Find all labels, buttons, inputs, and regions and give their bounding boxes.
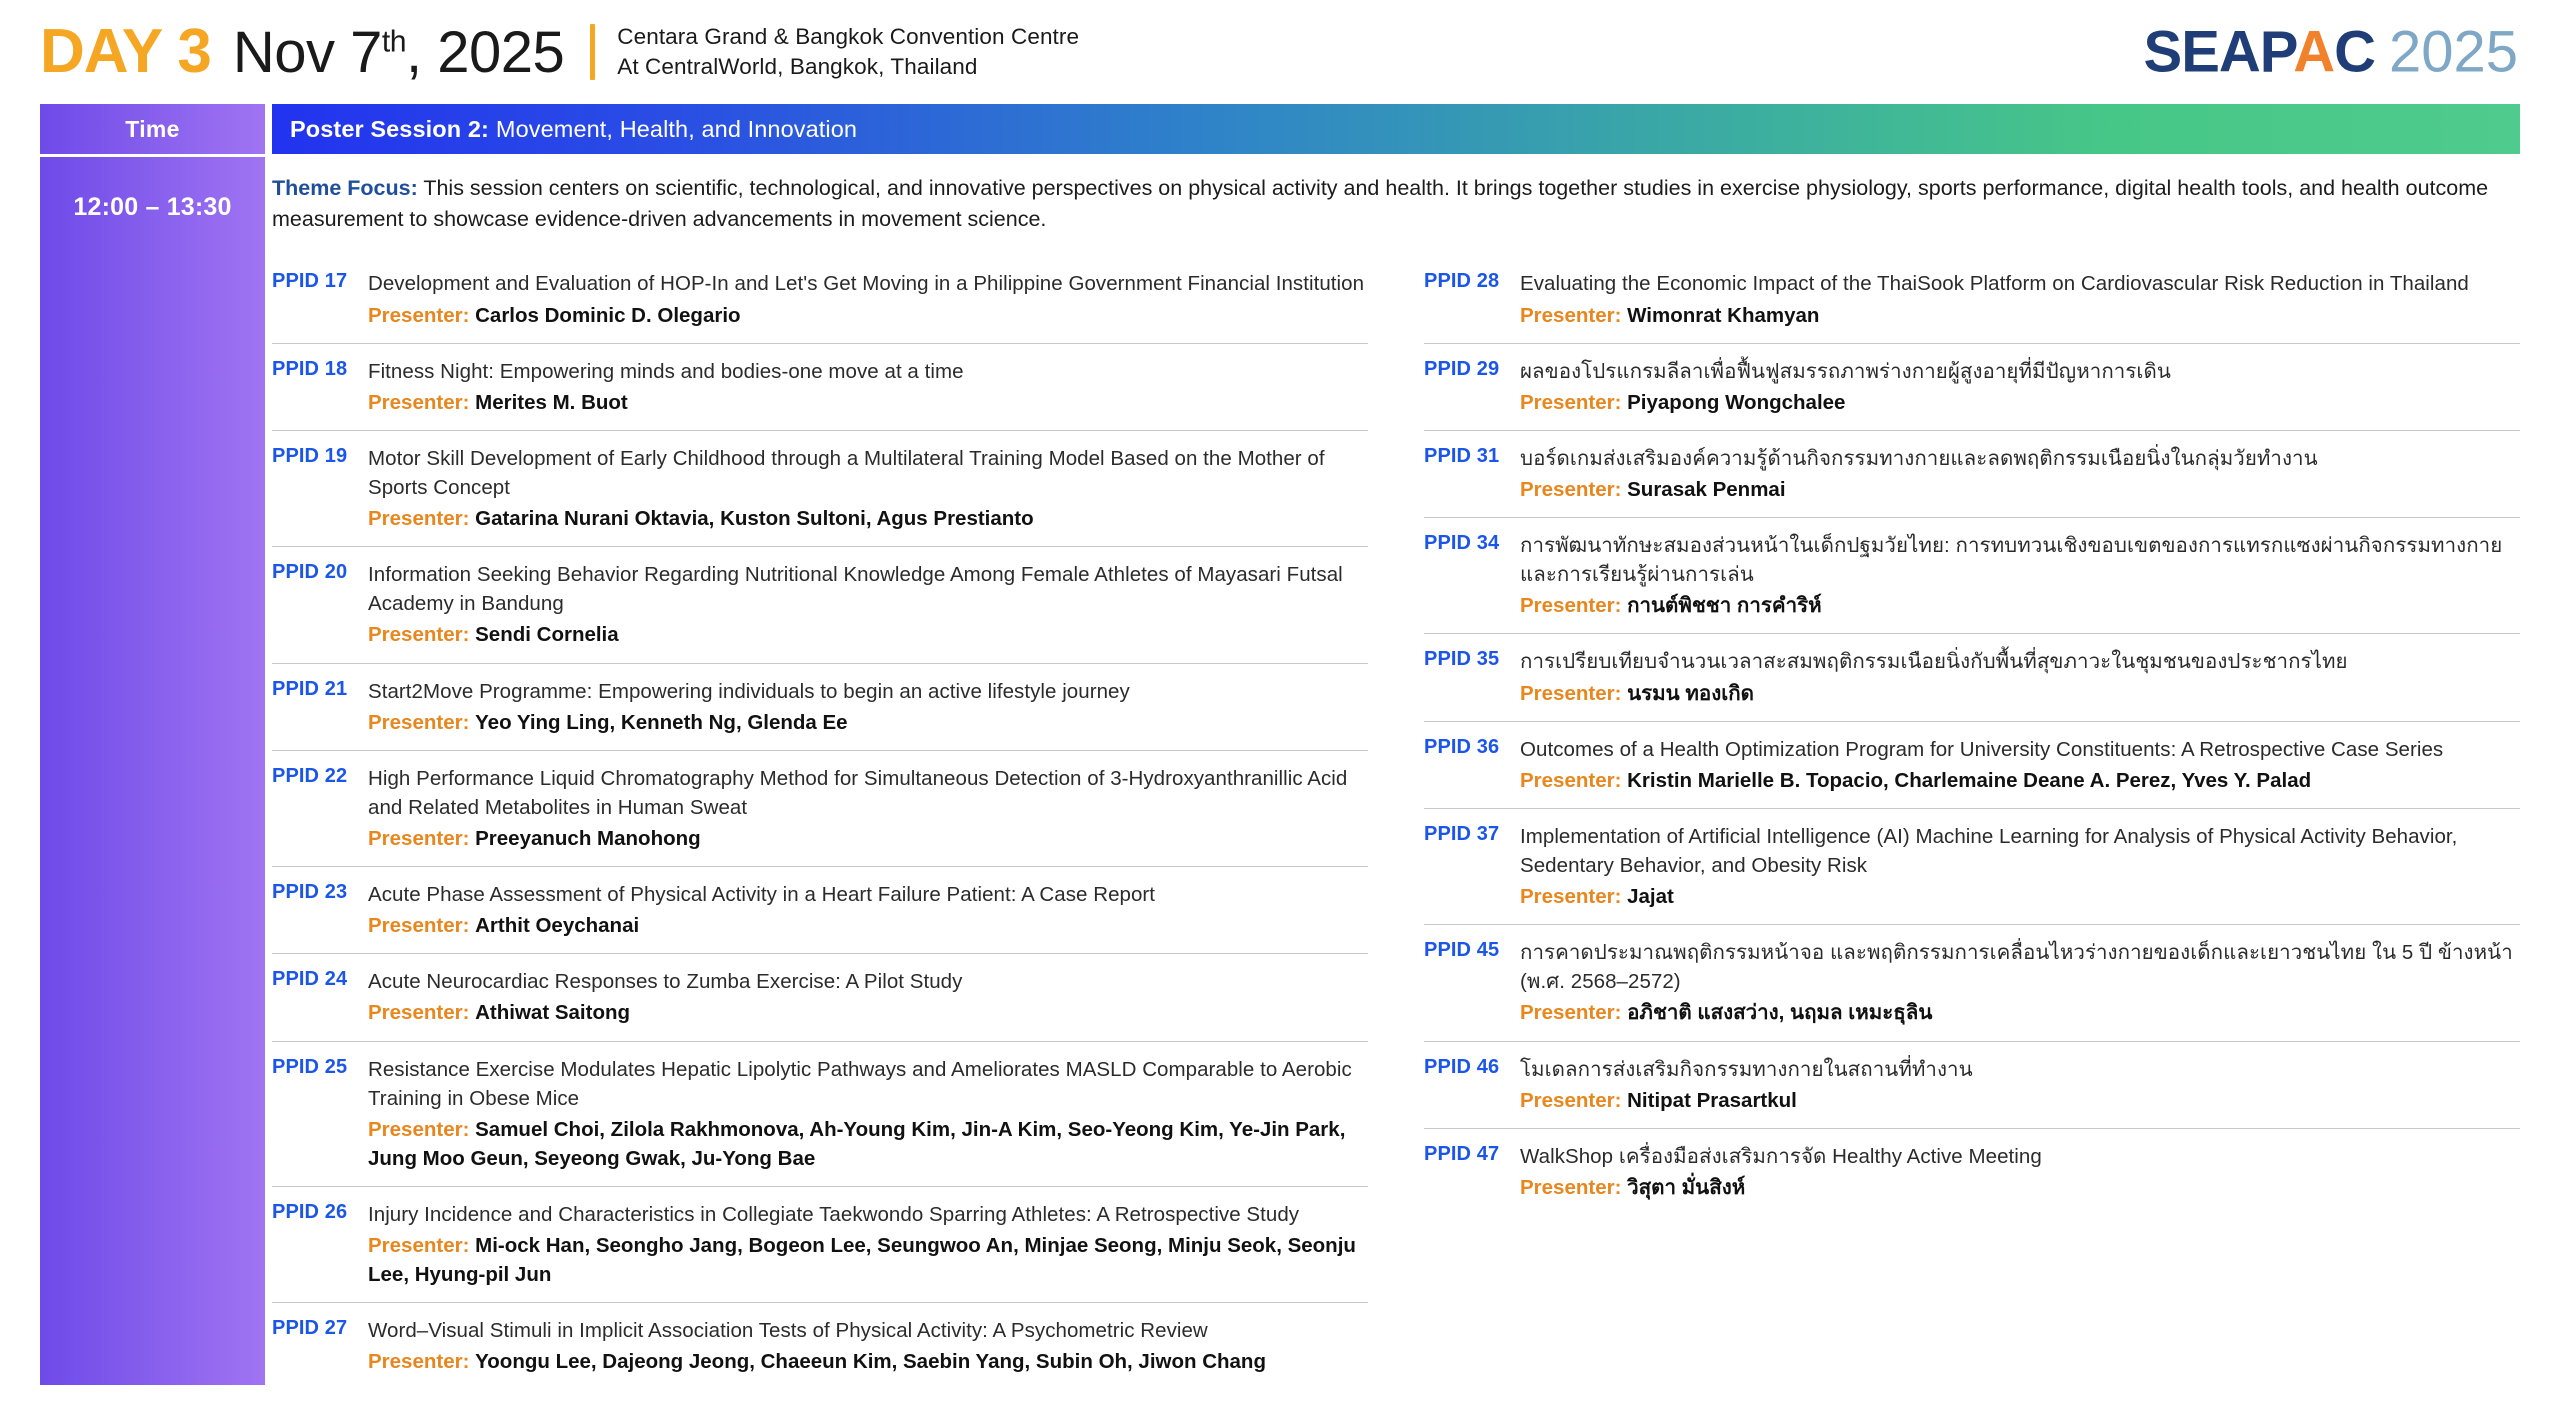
logo-a: A xyxy=(2293,20,2334,85)
poster-presenter: Presenter: Wimonrat Khamyan xyxy=(1520,301,2520,330)
poster-presenter: Presenter: Sendi Cornelia xyxy=(368,620,1368,649)
poster-id: PPID 18 xyxy=(272,357,368,381)
poster-entry-row: PPID 28Evaluating the Economic Impact of… xyxy=(1424,269,2520,329)
poster-entry-row: PPID 47WalkShop เครื่องมือส่งเสริมการจัด… xyxy=(1424,1142,2520,1202)
poster-entry[interactable]: PPID 25Resistance Exercise Modulates Hep… xyxy=(272,1042,1368,1187)
poster-entry-row: PPID 25Resistance Exercise Modulates Hep… xyxy=(272,1055,1368,1173)
poster-list-left: PPID 17Development and Evaluation of HOP… xyxy=(272,256,1368,1389)
logo-seap: SEAP xyxy=(2144,20,2294,85)
poster-entry[interactable]: PPID 23Acute Phase Assessment of Physica… xyxy=(272,867,1368,954)
poster-entry-text: WalkShop เครื่องมือส่งเสริมการจัด Health… xyxy=(1520,1142,2520,1202)
poster-title: Word–Visual Stimuli in Implicit Associat… xyxy=(368,1316,1368,1345)
presenter-label: Presenter: xyxy=(368,1234,469,1257)
poster-id: PPID 26 xyxy=(272,1200,368,1224)
poster-entry-row: PPID 24Acute Neurocardiac Responses to Z… xyxy=(272,967,1368,1027)
presenter-names: Sendi Cornelia xyxy=(475,623,619,646)
presenter-names: Samuel Choi, Zilola Rakhmonova, Ah-Young… xyxy=(368,1118,1345,1170)
poster-presenter: Presenter: Piyapong Wongchalee xyxy=(1520,388,2520,417)
poster-id: PPID 21 xyxy=(272,677,368,701)
poster-entry-text: Injury Incidence and Characteristics in … xyxy=(368,1200,1368,1289)
presenter-label: Presenter: xyxy=(368,827,469,850)
poster-presenter: Presenter: Yeo Ying Ling, Kenneth Ng, Gl… xyxy=(368,708,1368,737)
poster-entry-row: PPID 17Development and Evaluation of HOP… xyxy=(272,269,1368,329)
poster-title: Start2Move Programme: Empowering individ… xyxy=(368,677,1368,706)
poster-entry-row: PPID 29ผลของโปรแกรมลีลาเพื่อฟื้นฟูสมรรถภ… xyxy=(1424,357,2520,417)
poster-id: PPID 29 xyxy=(1424,357,1520,381)
poster-entry-row: PPID 23Acute Phase Assessment of Physica… xyxy=(272,880,1368,940)
poster-id: PPID 34 xyxy=(1424,531,1520,555)
poster-entry[interactable]: PPID 31บอร์ดเกมส่งเสริมองค์ความรู้ด้านกิ… xyxy=(1424,431,2520,518)
poster-entry[interactable]: PPID 46โมเดลการส่งเสริมกิจกรรมทางกายในสถ… xyxy=(1424,1042,2520,1129)
poster-id: PPID 17 xyxy=(272,269,368,293)
presenter-label: Presenter: xyxy=(1520,304,1621,327)
poster-title: Development and Evaluation of HOP-In and… xyxy=(368,269,1368,298)
poster-entry[interactable]: PPID 20Information Seeking Behavior Rega… xyxy=(272,547,1368,663)
poster-entry-row: PPID 45การคาดประมาณพฤติกรรมหน้าจอ และพฤต… xyxy=(1424,938,2520,1027)
poster-entry[interactable]: PPID 29ผลของโปรแกรมลีลาเพื่อฟื้นฟูสมรรถภ… xyxy=(1424,344,2520,431)
poster-entry-text: บอร์ดเกมส่งเสริมองค์ความรู้ด้านกิจกรรมทา… xyxy=(1520,444,2520,504)
presenter-label: Presenter: xyxy=(368,914,469,937)
presenter-names: Surasak Penmai xyxy=(1627,478,1785,501)
poster-presenter: Presenter: Preeyanuch Manohong xyxy=(368,824,1368,853)
poster-entry-text: Development and Evaluation of HOP-In and… xyxy=(368,269,1368,329)
poster-presenter: Presenter: กานต์พิชชา การคำริห์ xyxy=(1520,591,2520,620)
poster-title: การพัฒนาทักษะสมองส่วนหน้าในเด็กปฐมวัยไทย… xyxy=(1520,531,2520,589)
poster-entry-text: Information Seeking Behavior Regarding N… xyxy=(368,560,1368,649)
poster-entry[interactable]: PPID 26Injury Incidence and Characterist… xyxy=(272,1187,1368,1303)
poster-title: Acute Neurocardiac Responses to Zumba Ex… xyxy=(368,967,1368,996)
poster-entry-text: Motor Skill Development of Early Childho… xyxy=(368,444,1368,533)
poster-presenter: Presenter: Athiwat Saitong xyxy=(368,998,1368,1027)
poster-presenter: Presenter: Gatarina Nurani Oktavia, Kust… xyxy=(368,504,1368,533)
poster-presenter: Presenter: Nitipat Prasartkul xyxy=(1520,1086,2520,1115)
poster-entry-text: Evaluating the Economic Impact of the Th… xyxy=(1520,269,2520,329)
logo-year: 2025 xyxy=(2389,20,2518,85)
poster-title: ผลของโปรแกรมลีลาเพื่อฟื้นฟูสมรรถภาพร่างก… xyxy=(1520,357,2520,386)
header-divider xyxy=(590,24,595,80)
poster-entry[interactable]: PPID 47WalkShop เครื่องมือส่งเสริมการจัด… xyxy=(1424,1129,2520,1215)
presenter-names: Jajat xyxy=(1627,885,1674,908)
presenter-label: Presenter: xyxy=(368,623,469,646)
poster-id: PPID 45 xyxy=(1424,938,1520,962)
poster-title: โมเดลการส่งเสริมกิจกรรมทางกายในสถานที่ทำ… xyxy=(1520,1055,2520,1084)
presenter-names: อภิชาติ แสงสว่าง, นฤมล เหมะธุลิน xyxy=(1627,1001,1932,1024)
presenter-names: นรมน ทองเกิด xyxy=(1627,682,1754,705)
poster-id: PPID 28 xyxy=(1424,269,1520,293)
presenter-names: Merites M. Buot xyxy=(475,391,628,414)
poster-entry-text: การเปรียบเทียบจำนวนเวลาสะสมพฤติกรรมเนือย… xyxy=(1520,647,2520,707)
poster-entry-text: Acute Phase Assessment of Physical Activ… xyxy=(368,880,1368,940)
poster-title: Implementation of Artificial Intelligenc… xyxy=(1520,822,2520,880)
presenter-names: Yoongu Lee, Dajeong Jeong, Chaeeun Kim, … xyxy=(475,1350,1266,1373)
poster-entry-text: การพัฒนาทักษะสมองส่วนหน้าในเด็กปฐมวัยไทย… xyxy=(1520,531,2520,620)
poster-id: PPID 47 xyxy=(1424,1142,1520,1166)
poster-entry-row: PPID 46โมเดลการส่งเสริมกิจกรรมทางกายในสถ… xyxy=(1424,1055,2520,1115)
venue-line-1: Centara Grand & Bangkok Convention Centr… xyxy=(617,22,1079,52)
presenter-label: Presenter: xyxy=(368,1001,469,1024)
poster-entry-row: PPID 31บอร์ดเกมส่งเสริมองค์ความรู้ด้านกิ… xyxy=(1424,444,2520,504)
presenter-label: Presenter: xyxy=(1520,1089,1621,1112)
poster-entry-row: PPID 19Motor Skill Development of Early … xyxy=(272,444,1368,533)
poster-entry[interactable]: PPID 28Evaluating the Economic Impact of… xyxy=(1424,256,2520,343)
presenter-label: Presenter: xyxy=(368,1118,469,1141)
presenter-names: Arthit Oeychanai xyxy=(475,914,639,937)
presenter-label: Presenter: xyxy=(368,507,469,530)
poster-entry-row: PPID 36Outcomes of a Health Optimization… xyxy=(1424,735,2520,795)
venue-line-2: At CentralWorld, Bangkok, Thailand xyxy=(617,52,1079,82)
presenter-label: Presenter: xyxy=(1520,682,1621,705)
poster-presenter: Presenter: Arthit Oeychanai xyxy=(368,911,1368,940)
session-title: Movement, Health, and Innovation xyxy=(496,116,857,143)
poster-id: PPID 37 xyxy=(1424,822,1520,846)
presenter-label: Presenter: xyxy=(1520,769,1621,792)
poster-title: WalkShop เครื่องมือส่งเสริมการจัด Health… xyxy=(1520,1142,2520,1171)
poster-entry-row: PPID 21Start2Move Programme: Empowering … xyxy=(272,677,1368,737)
logo-c: C xyxy=(2334,20,2375,85)
date-label: Nov 7th, 2025 xyxy=(233,24,564,82)
poster-id: PPID 23 xyxy=(272,880,368,904)
presenter-names: Yeo Ying Ling, Kenneth Ng, Glenda Ee xyxy=(475,711,847,734)
poster-id: PPID 46 xyxy=(1424,1055,1520,1079)
poster-presenter: Presenter: Jajat xyxy=(1520,882,2520,911)
poster-id: PPID 22 xyxy=(272,764,368,788)
poster-entry[interactable]: PPID 22High Performance Liquid Chromatog… xyxy=(272,751,1368,867)
poster-entry-text: Acute Neurocardiac Responses to Zumba Ex… xyxy=(368,967,1368,1027)
poster-entry-row: PPID 34การพัฒนาทักษะสมองส่วนหน้าในเด็กปฐ… xyxy=(1424,531,2520,620)
presenter-names: Athiwat Saitong xyxy=(475,1001,630,1024)
session-title-bar: Poster Session 2:Movement, Health, and I… xyxy=(272,104,2520,154)
poster-title: Resistance Exercise Modulates Hepatic Li… xyxy=(368,1055,1368,1113)
poster-entry[interactable]: PPID 35การเปรียบเทียบจำนวนเวลาสะสมพฤติกร… xyxy=(1424,634,2520,721)
presenter-label: Presenter: xyxy=(1520,885,1621,908)
session-label: Poster Session 2: xyxy=(290,116,489,143)
poster-id: PPID 36 xyxy=(1424,735,1520,759)
theme-focus-paragraph: Theme Focus: This session centers on sci… xyxy=(272,173,2520,234)
time-column-header: Time xyxy=(40,104,265,154)
poster-presenter: Presenter: Mi-ock Han, Seongho Jang, Bog… xyxy=(368,1231,1368,1289)
presenter-names: Carlos Dominic D. Olegario xyxy=(475,304,740,327)
venue-block: Centara Grand & Bangkok Convention Centr… xyxy=(617,22,1079,82)
presenter-names: Nitipat Prasartkul xyxy=(1627,1089,1797,1112)
poster-entry[interactable]: PPID 36Outcomes of a Health Optimization… xyxy=(1424,722,2520,809)
poster-entry-text: Implementation of Artificial Intelligenc… xyxy=(1520,822,2520,911)
poster-presenter: Presenter: Yoongu Lee, Dajeong Jeong, Ch… xyxy=(368,1347,1368,1376)
poster-id: PPID 20 xyxy=(272,560,368,584)
poster-title: การคาดประมาณพฤติกรรมหน้าจอ และพฤติกรรมกา… xyxy=(1520,938,2520,996)
page-header: DAY 3 Nov 7th, 2025 Centara Grand & Bang… xyxy=(0,0,2560,104)
presenter-label: Presenter: xyxy=(1520,478,1621,501)
poster-entry-text: Outcomes of a Health Optimization Progra… xyxy=(1520,735,2520,795)
poster-presenter: Presenter: Samuel Choi, Zilola Rakhmonov… xyxy=(368,1115,1368,1173)
poster-id: PPID 27 xyxy=(272,1316,368,1340)
poster-list-right: PPID 28Evaluating the Economic Impact of… xyxy=(1424,256,2520,1389)
poster-entry-row: PPID 37Implementation of Artificial Inte… xyxy=(1424,822,2520,911)
poster-title: Injury Incidence and Characteristics in … xyxy=(368,1200,1368,1229)
poster-presenter: Presenter: Merites M. Buot xyxy=(368,388,1368,417)
poster-entry-row: PPID 18Fitness Night: Empowering minds a… xyxy=(272,357,1368,417)
poster-title: Acute Phase Assessment of Physical Activ… xyxy=(368,880,1368,909)
poster-entry-row: PPID 27Word–Visual Stimuli in Implicit A… xyxy=(272,1316,1368,1376)
poster-id: PPID 19 xyxy=(272,444,368,468)
poster-id: PPID 35 xyxy=(1424,647,1520,671)
seapac-logo: SEAPAC2025 xyxy=(2144,19,2518,86)
poster-id: PPID 24 xyxy=(272,967,368,991)
date-year: , 2025 xyxy=(406,20,564,85)
theme-focus-label: Theme Focus: xyxy=(272,176,418,200)
presenter-names: Kristin Marielle B. Topacio, Charlemaine… xyxy=(1627,769,2311,792)
poster-entry[interactable]: PPID 17Development and Evaluation of HOP… xyxy=(272,256,1368,343)
poster-entry-text: Resistance Exercise Modulates Hepatic Li… xyxy=(368,1055,1368,1173)
presenter-label: Presenter: xyxy=(368,391,469,414)
poster-entry[interactable]: PPID 37Implementation of Artificial Inte… xyxy=(1424,809,2520,925)
schedule-poster: DAY 3 Nov 7th, 2025 Centara Grand & Bang… xyxy=(0,0,2560,1422)
presenter-names: Gatarina Nurani Oktavia, Kuston Sultoni,… xyxy=(475,507,1034,530)
poster-entry[interactable]: PPID 24Acute Neurocardiac Responses to Z… xyxy=(272,954,1368,1041)
poster-columns: PPID 17Development and Evaluation of HOP… xyxy=(272,256,2520,1389)
poster-entry-text: Word–Visual Stimuli in Implicit Associat… xyxy=(368,1316,1368,1376)
poster-title: Evaluating the Economic Impact of the Th… xyxy=(1520,269,2520,298)
poster-entry-row: PPID 26Injury Incidence and Characterist… xyxy=(272,1200,1368,1289)
poster-title: บอร์ดเกมส่งเสริมองค์ความรู้ด้านกิจกรรมทา… xyxy=(1520,444,2520,473)
presenter-names: Mi-ock Han, Seongho Jang, Bogeon Lee, Se… xyxy=(368,1234,1356,1286)
presenter-names: Preeyanuch Manohong xyxy=(475,827,701,850)
presenter-names: Wimonrat Khamyan xyxy=(1627,304,1819,327)
poster-presenter: Presenter: วิสุตา มั่นสิงห์ xyxy=(1520,1173,2520,1202)
poster-title: High Performance Liquid Chromatography M… xyxy=(368,764,1368,822)
poster-entry-text: การคาดประมาณพฤติกรรมหน้าจอ และพฤติกรรมกา… xyxy=(1520,938,2520,1027)
time-column: Time 12:00 – 13:30 xyxy=(40,104,265,1385)
schedule-body: Time 12:00 – 13:30 Poster Session 2:Move… xyxy=(0,104,2560,1422)
poster-entry-text: Start2Move Programme: Empowering individ… xyxy=(368,677,1368,737)
poster-presenter: Presenter: นรมน ทองเกิด xyxy=(1520,679,2520,708)
poster-title: Outcomes of a Health Optimization Progra… xyxy=(1520,735,2520,764)
poster-entry[interactable]: PPID 19Motor Skill Development of Early … xyxy=(272,431,1368,547)
presenter-label: Presenter: xyxy=(1520,1001,1621,1024)
theme-focus-text: This session centers on scientific, tech… xyxy=(272,176,2488,231)
poster-presenter: Presenter: อภิชาติ แสงสว่าง, นฤมล เหมะธุ… xyxy=(1520,998,2520,1027)
poster-id: PPID 25 xyxy=(272,1055,368,1079)
poster-entry-text: โมเดลการส่งเสริมกิจกรรมทางกายในสถานที่ทำ… xyxy=(1520,1055,2520,1115)
poster-title: Motor Skill Development of Early Childho… xyxy=(368,444,1368,502)
presenter-label: Presenter: xyxy=(368,711,469,734)
presenter-label: Presenter: xyxy=(1520,1176,1621,1199)
poster-presenter: Presenter: Carlos Dominic D. Olegario xyxy=(368,301,1368,330)
poster-entry-text: High Performance Liquid Chromatography M… xyxy=(368,764,1368,853)
presenter-names: Piyapong Wongchalee xyxy=(1627,391,1845,414)
poster-title: Information Seeking Behavior Regarding N… xyxy=(368,560,1368,618)
presenter-label: Presenter: xyxy=(1520,594,1621,617)
poster-entry[interactable]: PPID 21Start2Move Programme: Empowering … xyxy=(272,664,1368,751)
session-time-value: 12:00 – 13:30 xyxy=(40,193,265,222)
poster-entry[interactable]: PPID 18Fitness Night: Empowering minds a… xyxy=(272,344,1368,431)
presenter-label: Presenter: xyxy=(1520,391,1621,414)
poster-entry-text: ผลของโปรแกรมลีลาเพื่อฟื้นฟูสมรรถภาพร่างก… xyxy=(1520,357,2520,417)
poster-entry-row: PPID 22High Performance Liquid Chromatog… xyxy=(272,764,1368,853)
poster-entry[interactable]: PPID 45การคาดประมาณพฤติกรรมหน้าจอ และพฤต… xyxy=(1424,925,2520,1041)
poster-entry[interactable]: PPID 27Word–Visual Stimuli in Implicit A… xyxy=(272,1303,1368,1389)
poster-title: Fitness Night: Empowering minds and bodi… xyxy=(368,357,1368,386)
time-column-body: 12:00 – 13:30 xyxy=(40,157,265,1385)
day-label: DAY 3 xyxy=(40,21,211,83)
presenter-names: วิสุตา มั่นสิงห์ xyxy=(1627,1176,1745,1199)
content-column: Poster Session 2:Movement, Health, and I… xyxy=(272,104,2520,1390)
poster-id: PPID 31 xyxy=(1424,444,1520,468)
poster-entry-row: PPID 35การเปรียบเทียบจำนวนเวลาสะสมพฤติกร… xyxy=(1424,647,2520,707)
header-left-group: DAY 3 Nov 7th, 2025 Centara Grand & Bang… xyxy=(0,21,1079,83)
poster-presenter: Presenter: Kristin Marielle B. Topacio, … xyxy=(1520,766,2520,795)
presenter-label: Presenter: xyxy=(368,1350,469,1373)
date-month: Nov 7 xyxy=(233,20,382,85)
date-ordinal-suffix: th xyxy=(382,26,406,59)
poster-entry-row: PPID 20Information Seeking Behavior Rega… xyxy=(272,560,1368,649)
poster-entry-text: Fitness Night: Empowering minds and bodi… xyxy=(368,357,1368,417)
poster-entry[interactable]: PPID 34การพัฒนาทักษะสมองส่วนหน้าในเด็กปฐ… xyxy=(1424,518,2520,634)
presenter-label: Presenter: xyxy=(368,304,469,327)
poster-presenter: Presenter: Surasak Penmai xyxy=(1520,475,2520,504)
poster-title: การเปรียบเทียบจำนวนเวลาสะสมพฤติกรรมเนือย… xyxy=(1520,647,2520,676)
presenter-names: กานต์พิชชา การคำริห์ xyxy=(1627,594,1821,617)
